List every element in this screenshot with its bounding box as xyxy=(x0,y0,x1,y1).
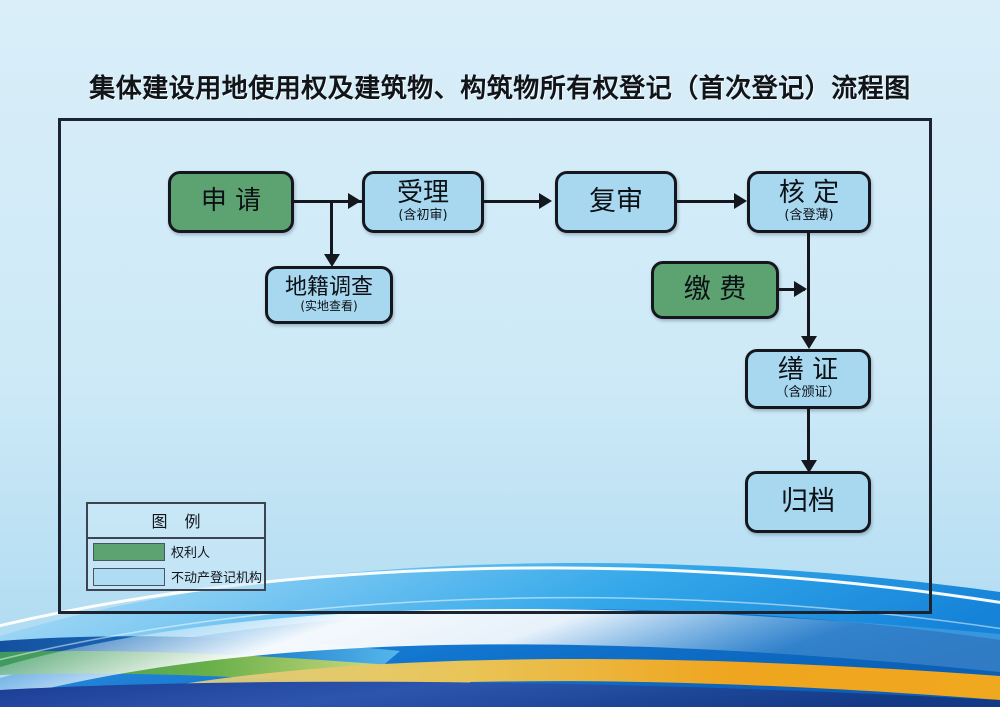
legend: 图 例 权利人 不动产登记机构 xyxy=(86,502,266,591)
node-survey[interactable]: 地籍调查 (实地查看) xyxy=(265,266,393,324)
legend-title: 图 例 xyxy=(88,504,264,539)
page-title: 集体建设用地使用权及建筑物、构筑物所有权登记（首次登记）流程图 xyxy=(0,68,1000,105)
edge-review-approve xyxy=(677,200,737,203)
node-issue[interactable]: 缮 证 （含颁证） xyxy=(745,349,871,409)
legend-label-applicant: 权利人 xyxy=(171,542,210,561)
node-accept[interactable]: 受理 (含初审) xyxy=(362,171,484,233)
arrow-approve-issue xyxy=(801,336,817,349)
node-payment[interactable]: 缴 费 xyxy=(651,261,779,319)
node-review[interactable]: 复审 xyxy=(555,171,677,233)
node-archive-label: 归档 xyxy=(781,488,835,516)
node-accept-label: 受理 xyxy=(397,180,449,207)
node-approve[interactable]: 核 定 (含登薄) xyxy=(747,171,871,233)
edge-apply-survey xyxy=(330,200,333,260)
node-payment-label: 缴 费 xyxy=(684,276,747,304)
arrow-apply-accept xyxy=(348,193,361,209)
edge-approve-issue xyxy=(807,233,810,345)
node-issue-sublabel: （含颁证） xyxy=(775,386,840,401)
legend-swatch-applicant xyxy=(93,543,165,561)
node-apply-label: 申 请 xyxy=(201,188,261,215)
node-archive[interactable]: 归档 xyxy=(745,471,871,533)
arrow-review-approve xyxy=(734,193,747,209)
legend-label-agency: 不动产登记机构 xyxy=(171,567,262,586)
legend-swatch-agency xyxy=(93,568,165,586)
node-approve-label: 核 定 xyxy=(779,180,839,207)
flowchart-poster: 集体建设用地使用权及建筑物、构筑物所有权登记（首次登记）流程图 申 请 受理 (… xyxy=(0,0,1000,707)
node-issue-label: 缮 证 xyxy=(778,357,838,384)
node-survey-sublabel: (实地查看) xyxy=(300,300,357,314)
node-apply[interactable]: 申 请 xyxy=(168,171,294,233)
node-review-label: 复审 xyxy=(589,188,643,216)
node-survey-label: 地籍调查 xyxy=(285,276,373,299)
arrow-payment-join xyxy=(794,281,807,297)
edge-accept-review xyxy=(484,200,542,203)
edge-issue-archive xyxy=(807,409,810,467)
node-approve-sublabel: (含登薄) xyxy=(784,209,833,224)
node-accept-sublabel: (含初审) xyxy=(398,209,447,224)
edge-apply-accept xyxy=(294,200,349,203)
arrow-accept-review xyxy=(539,193,552,209)
legend-item-applicant: 权利人 xyxy=(88,539,264,564)
legend-item-agency: 不动产登记机构 xyxy=(88,564,264,589)
